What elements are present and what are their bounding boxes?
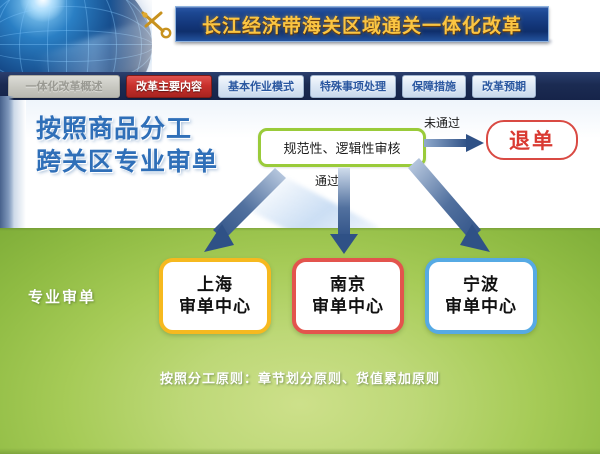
slide-canvas: 长江经济带海关区域通关一体化改革 一体化改革概述 改革主要内容 基本作业模式 特…	[0, 0, 600, 454]
center-card-shanghai[interactable]: 上海 审单中心	[159, 258, 271, 334]
tab-special-matters[interactable]: 特殊事项处理	[310, 75, 396, 98]
tab-overview[interactable]: 一体化改革概述	[8, 75, 120, 98]
center-card-ningbo[interactable]: 宁波 审单中心	[425, 258, 537, 334]
center-card-city: 南京	[330, 274, 366, 296]
green-bottom-edge	[0, 448, 600, 454]
arrow-to-ningbo	[408, 158, 490, 252]
center-card-suffix: 审单中心	[445, 296, 517, 318]
arrow-to-nanjing	[330, 168, 358, 254]
tab-expectations[interactable]: 改革预期	[472, 75, 536, 98]
fail-arrow-icon	[424, 134, 484, 152]
center-card-suffix: 审单中心	[179, 296, 251, 318]
center-card-suffix: 审单中心	[312, 296, 384, 318]
allocation-principle-note: 按照分工原则：章节划分原则、货值累加原则	[0, 368, 600, 387]
reject-node: 退单	[486, 120, 578, 160]
tab-basic-mode[interactable]: 基本作业模式	[218, 75, 304, 98]
review-check-node: 规范性、逻辑性审核	[258, 128, 426, 167]
arrow-to-shanghai	[204, 168, 286, 252]
presentation-title-text: 长江经济带海关区域通关一体化改革	[202, 11, 522, 38]
center-card-nanjing[interactable]: 南京 审单中心	[292, 258, 404, 334]
center-card-city: 宁波	[463, 274, 499, 296]
center-card-city: 上海	[197, 274, 233, 296]
tab-bar: 一体化改革概述 改革主要内容 基本作业模式 特殊事项处理 保障措施 改革预期	[0, 74, 600, 98]
tab-safeguards[interactable]: 保障措施	[402, 75, 466, 98]
review-check-label: 规范性、逻辑性审核	[283, 138, 400, 157]
professional-review-label: 专业审单	[28, 286, 96, 307]
gavel-icon	[139, 9, 173, 39]
headline-line-1: 按照商品分工	[36, 112, 276, 145]
reject-node-label: 退单	[509, 125, 555, 155]
fail-branch-label: 未通过	[424, 114, 460, 131]
presentation-title: 长江经济带海关区域通关一体化改革	[175, 6, 549, 42]
tab-main-content[interactable]: 改革主要内容	[126, 75, 212, 98]
fanout-arrows	[0, 168, 600, 268]
